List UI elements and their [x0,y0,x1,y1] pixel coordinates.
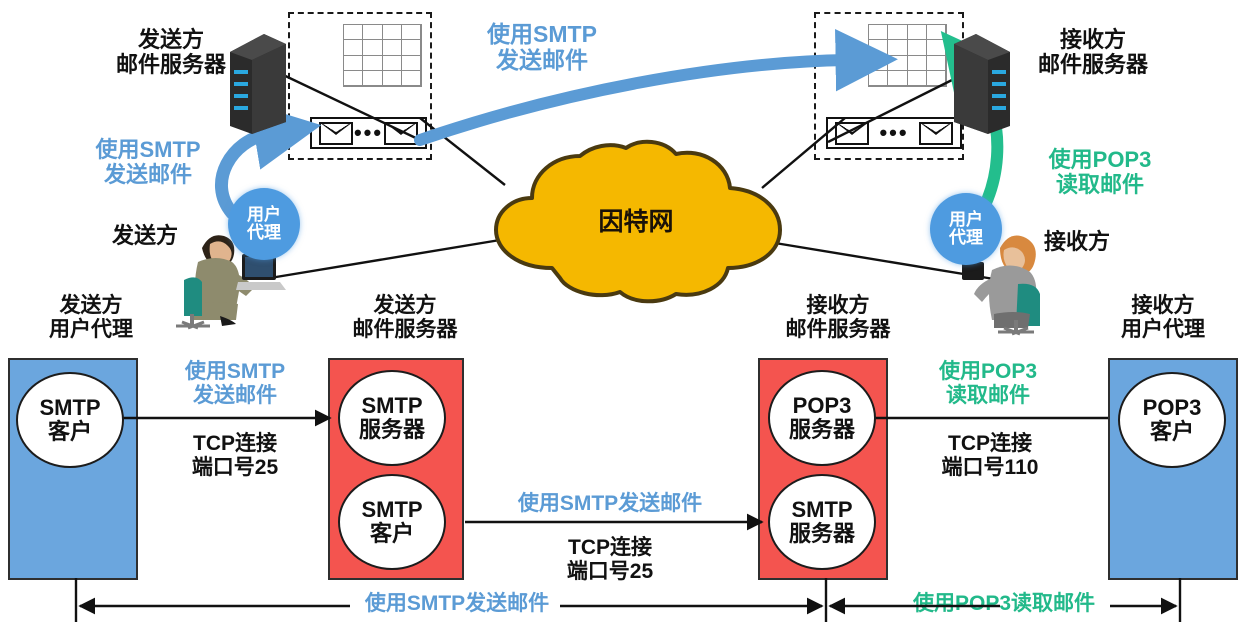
agent-label: 用户 代理 [247,206,281,242]
receiver-server-rack-icon [952,30,1016,140]
node-line1: SMTP [39,396,100,420]
node-pop3-client-receiver: POP3 客户 [1118,372,1226,468]
sender-user-agent-bubble: 用户 代理 [228,188,300,260]
node-line2: 客户 [370,522,414,546]
node-line1: SMTP [791,498,852,522]
smtp-flow-internet [420,60,848,140]
bottom-span-bars [76,578,1180,622]
node-line2: 服务器 [789,522,855,546]
node-line1: SMTP [361,394,422,418]
node-smtp-client-sender: SMTP 客户 [16,372,124,468]
node-smtp-client-sender-server: SMTP 客户 [338,474,446,570]
bottom-link-arrows [118,418,1108,522]
internet-label: 因特网 [566,208,706,236]
receiver-user-agent-bubble: 用户 代理 [930,193,1002,265]
node-line2: 客户 [48,420,92,444]
email-protocol-diagram: 发送方 邮件服务器 接收方 邮件服务器 发送方 接收方 ••• ••• [0,0,1245,635]
node-line1: POP3 [793,394,852,418]
node-smtp-server-receiver: SMTP 服务器 [768,474,876,570]
node-line1: SMTP [361,498,422,522]
node-line2: 客户 [1150,420,1194,444]
node-pop3-server-receiver: POP3 服务器 [768,370,876,466]
agent-label: 用户 代理 [949,211,983,247]
node-line2: 服务器 [789,418,855,442]
sender-server-rack-icon [224,30,288,140]
node-line2: 服务器 [359,418,425,442]
node-line1: POP3 [1143,396,1202,420]
node-smtp-server-sender: SMTP 服务器 [338,370,446,466]
